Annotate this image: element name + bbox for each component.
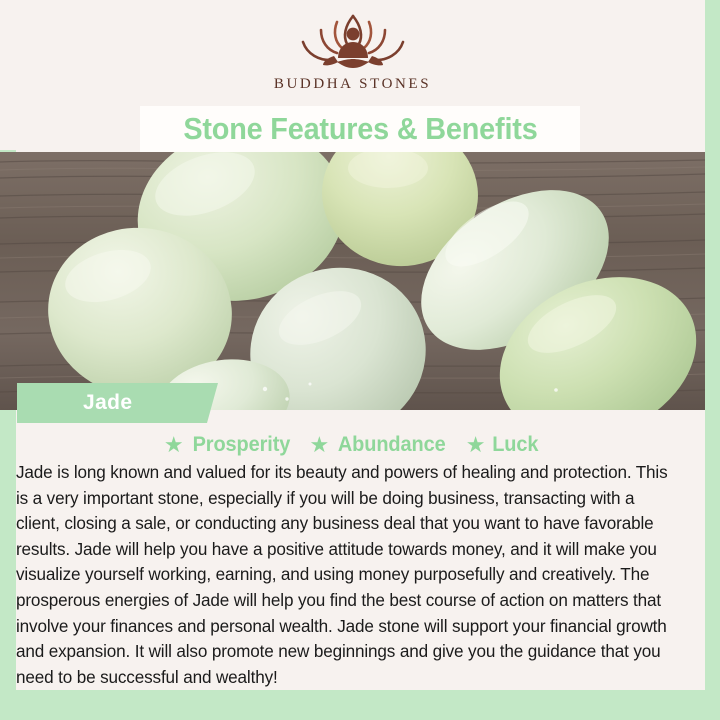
brand-name: BUDDHA STONES [274, 76, 431, 93]
star-icon: ★ [466, 434, 486, 456]
stone-info-card: BUDDHA STONES Stone Features & Benefits [0, 0, 720, 720]
stone-name-banner: Jade [17, 383, 218, 423]
stone-photo-graphic [0, 152, 705, 410]
benefit-item: ★ Luck [466, 433, 540, 457]
benefit-item: ★ Prosperity [164, 433, 293, 457]
benefit-item: ★ Abundance [310, 433, 449, 457]
star-icon: ★ [164, 434, 184, 456]
star-icon: ★ [310, 434, 330, 456]
lotus-meditation-icon [287, 8, 419, 74]
bottom-green-bar [0, 690, 560, 720]
benefits-row: ★ Prosperity ★ Abundance ★ Luck [16, 429, 688, 461]
brand-header: BUDDHA STONES [0, 8, 705, 110]
stone-name: Jade [83, 391, 132, 415]
page-title: Stone Features & Benefits [183, 111, 537, 147]
benefit-label: Prosperity [192, 433, 290, 457]
stone-photo [0, 152, 705, 410]
benefit-label: Abundance [338, 433, 446, 457]
description-text: Jade is long known and valued for its be… [16, 460, 682, 690]
benefit-label: Luck [493, 433, 539, 457]
title-band: Stone Features & Benefits [140, 106, 580, 152]
